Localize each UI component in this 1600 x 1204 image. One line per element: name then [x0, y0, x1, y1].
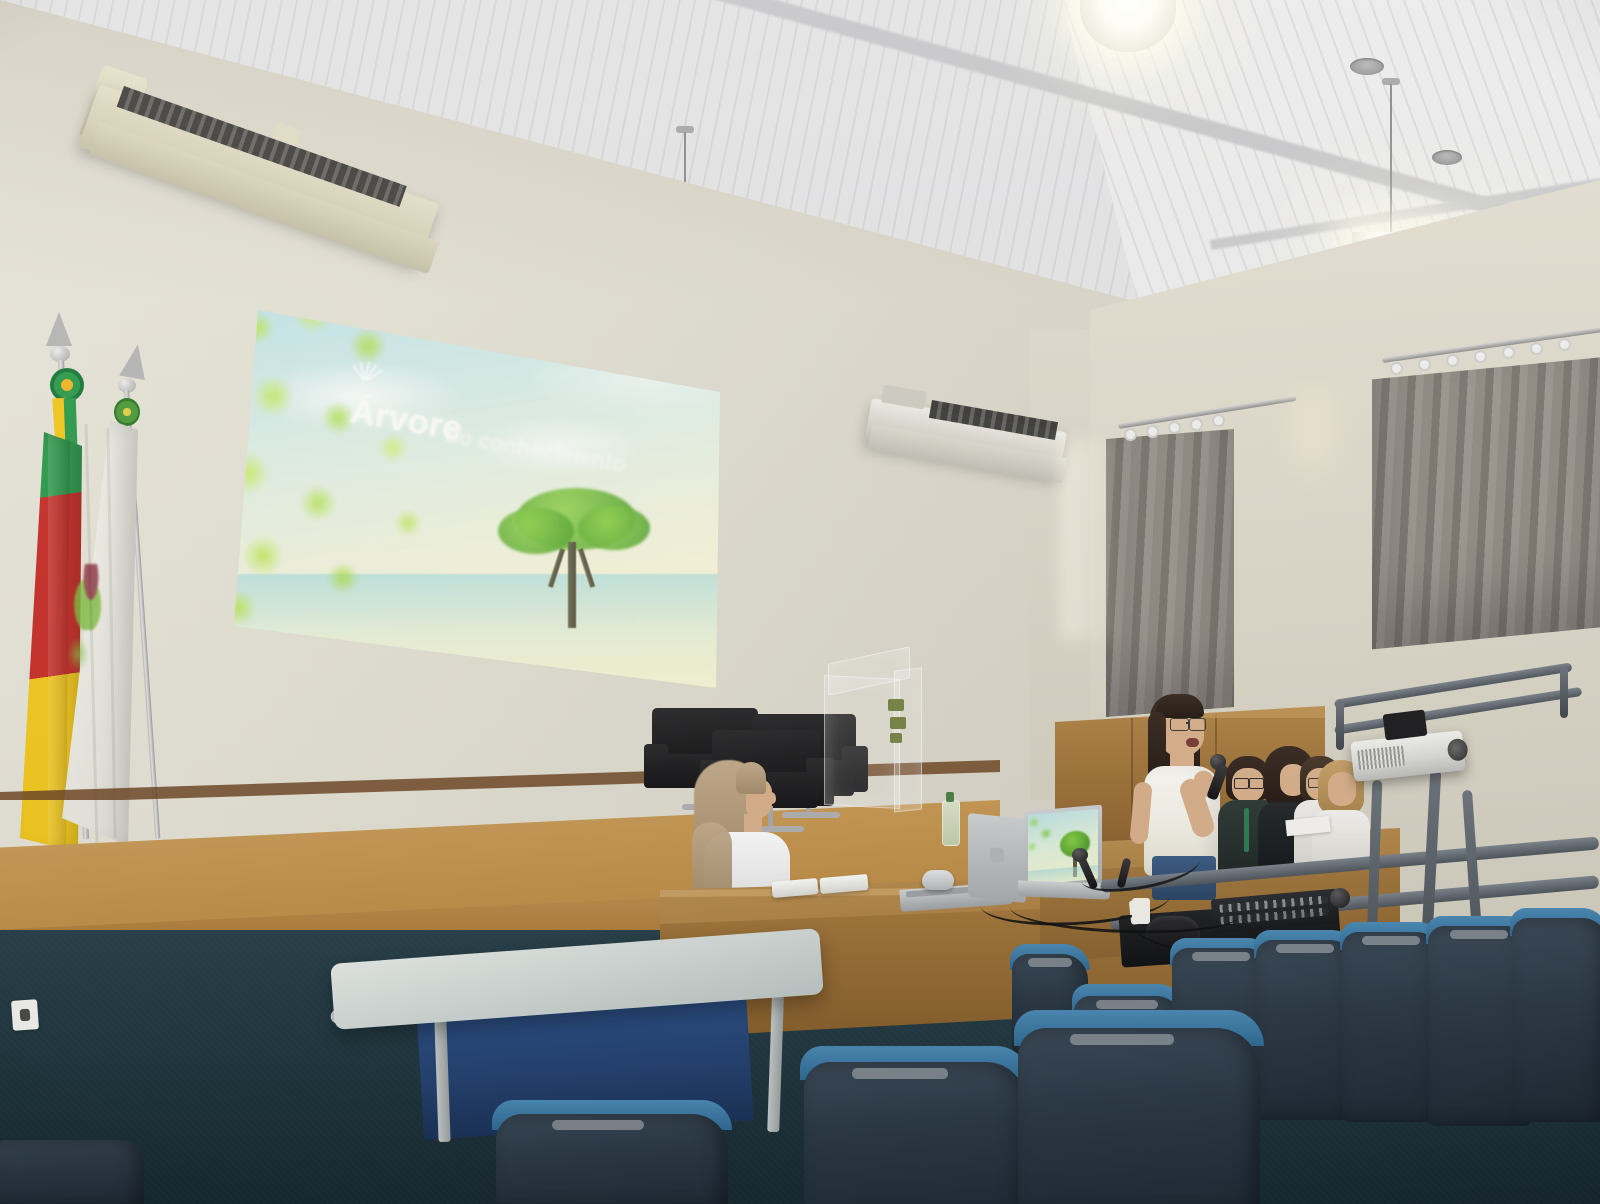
projector-mount-bracket [1383, 710, 1428, 741]
slide-leaf-canopy [228, 296, 478, 648]
lanyard [1244, 808, 1249, 852]
glasses-icon [1170, 718, 1189, 731]
acrylic-lectern[interactable] [820, 655, 928, 815]
mic-on-stand-head-icon [1330, 888, 1350, 908]
lectern-logo-icon-2 [890, 717, 906, 729]
audience-seat-far-left[interactable] [0, 1140, 144, 1204]
audience-seat-foreground-1[interactable] [800, 1046, 1030, 1204]
auditorium-photo: Árvore do conhecimento [0, 0, 1600, 1204]
audience-seat-7[interactable] [1510, 908, 1600, 1122]
wall-air-conditioner-right [872, 384, 1092, 476]
slide-tree [494, 488, 654, 638]
flag-group [18, 312, 168, 852]
person-seated-front [684, 752, 804, 902]
glasses-icon-right [1189, 718, 1206, 731]
lectern-logo-icon-3 [890, 733, 902, 743]
window-light-glare [1060, 440, 1120, 640]
glasses-icon-panelist-1 [1234, 778, 1249, 789]
ceiling-light-glow [1268, 380, 1358, 500]
audience-seat-under-desk[interactable] [492, 1100, 732, 1204]
audience-seat-foreground-2[interactable] [1014, 1010, 1264, 1204]
laptop-brand-logo [990, 847, 1004, 862]
recessed-spot-2 [1432, 150, 1462, 165]
lectern-logo-icon [888, 699, 904, 711]
wall-air-conditioner-left [78, 62, 478, 268]
recessed-spot-1 [1350, 58, 1384, 75]
computer-mouse[interactable] [922, 870, 954, 890]
table-mic-head-1-icon [1072, 848, 1088, 862]
white-cup [1132, 898, 1150, 924]
wall-outlet [11, 999, 39, 1031]
